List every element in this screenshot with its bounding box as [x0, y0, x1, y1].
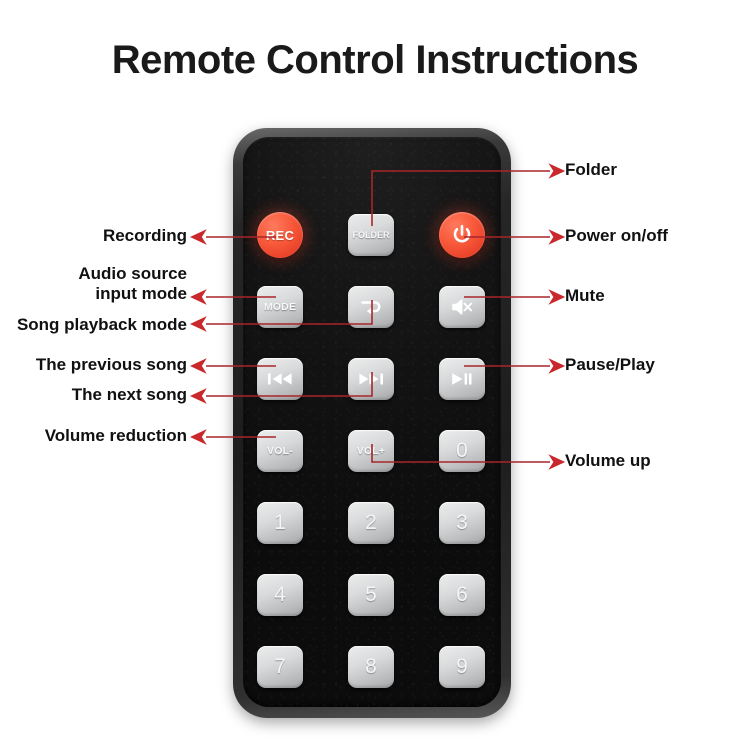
digit-label: 1 — [274, 511, 286, 535]
folder-label: FOLDER — [353, 230, 390, 240]
callout-recording: Recording — [103, 226, 187, 246]
callout-the-next-song: The next song — [72, 385, 187, 405]
next-track-icon — [357, 371, 385, 387]
remote-key-rec[interactable]: REC — [257, 212, 303, 258]
digit-label: 7 — [274, 655, 286, 679]
repeat-loop-icon — [358, 295, 384, 319]
digit-label: 3 — [456, 511, 468, 535]
remote-key-9[interactable]: 9 — [439, 646, 485, 688]
remote-key-power[interactable] — [439, 212, 485, 258]
vol-down-label: VOL- — [267, 445, 293, 457]
remote-key-vol-down[interactable]: VOL- — [257, 430, 303, 472]
remote-key-previous[interactable] — [257, 358, 303, 400]
callout-power-on-off: Power on/off — [565, 226, 668, 246]
remote-key-0[interactable]: 0 — [439, 430, 485, 472]
callout-the-previous-song: The previous song — [36, 355, 187, 375]
remote-key-repeat[interactable] — [348, 286, 394, 328]
remote-key-mode[interactable]: MODE — [257, 286, 303, 328]
mute-speaker-icon — [449, 295, 475, 319]
power-icon — [450, 223, 474, 247]
digit-label: 8 — [365, 655, 377, 679]
remote-key-1[interactable]: 1 — [257, 502, 303, 544]
rec-label: REC — [266, 228, 294, 243]
remote-key-vol-up[interactable]: VOL+ — [348, 430, 394, 472]
remote-key-7[interactable]: 7 — [257, 646, 303, 688]
digit-label: 9 — [456, 655, 468, 679]
callout-volume-up: Volume up — [565, 451, 651, 471]
remote-key-2[interactable]: 2 — [348, 502, 394, 544]
remote-key-4[interactable]: 4 — [257, 574, 303, 616]
callout-volume-reduction: Volume reduction — [45, 426, 187, 446]
remote-key-6[interactable]: 6 — [439, 574, 485, 616]
callout-audio-source-input-mode: Audio source input mode — [78, 264, 187, 304]
vol-up-label: VOL+ — [357, 445, 386, 457]
remote-key-play-pause[interactable] — [439, 358, 485, 400]
remote-control-body: REC FOLDER MODE — [233, 128, 511, 718]
digit-label: 6 — [456, 583, 468, 607]
remote-key-8[interactable]: 8 — [348, 646, 394, 688]
page-title: Remote Control Instructions — [0, 38, 750, 83]
mode-label: MODE — [264, 301, 296, 313]
digit-label: 4 — [274, 583, 286, 607]
digit-label: 2 — [365, 511, 377, 535]
callout-folder: Folder — [565, 160, 617, 180]
instruction-diagram: Remote Control Instructions REC FOLDER M… — [0, 0, 750, 750]
remote-key-next[interactable] — [348, 358, 394, 400]
previous-track-icon — [266, 371, 294, 387]
callout-pause-play: Pause/Play — [565, 355, 655, 375]
digit-label: 0 — [456, 439, 468, 463]
callout-mute: Mute — [565, 286, 605, 306]
remote-key-5[interactable]: 5 — [348, 574, 394, 616]
play-pause-icon — [449, 371, 475, 387]
remote-key-folder[interactable]: FOLDER — [348, 214, 394, 256]
digit-label: 5 — [365, 583, 377, 607]
callout-song-playback-mode: Song playback mode — [17, 315, 187, 335]
remote-key-3[interactable]: 3 — [439, 502, 485, 544]
remote-key-mute[interactable] — [439, 286, 485, 328]
